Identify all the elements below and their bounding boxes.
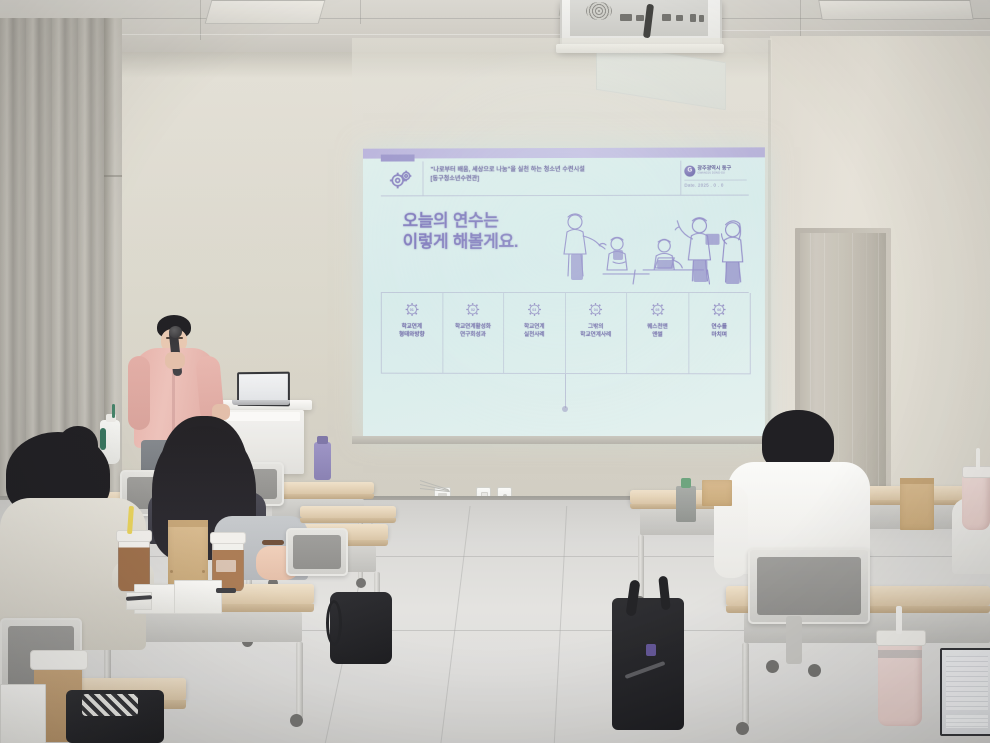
attendee-laptop-screen[interactable] xyxy=(940,648,990,736)
tumbler-straw xyxy=(896,606,902,634)
chair-caster xyxy=(766,660,779,673)
slide-title-line2: 이렇게 해볼게요. xyxy=(403,231,519,252)
white-box xyxy=(0,684,46,743)
gear-icon: 01 xyxy=(404,302,419,317)
chair-stand xyxy=(786,616,802,664)
tumbler-handle xyxy=(100,428,106,450)
desk xyxy=(300,506,396,518)
projector-port xyxy=(699,15,704,22)
step-label: 학교연계활성화 연구회성과 xyxy=(455,323,491,339)
outlet-cables xyxy=(420,478,450,492)
presenter-left-arm xyxy=(128,356,150,430)
projector-port xyxy=(676,15,683,21)
eyeglasses xyxy=(216,588,236,593)
cup-label xyxy=(216,560,236,572)
slide-header-line2: [동구청소년수련관] xyxy=(430,174,680,183)
slide-connector-line xyxy=(565,374,566,408)
ceiling-tile-line xyxy=(120,34,560,35)
step-number: 06 xyxy=(712,302,727,317)
step-label: 학교연계 실천사례 xyxy=(524,323,545,339)
paper-bag-fold xyxy=(168,520,208,527)
step-label: 학교연계 형태와방향 xyxy=(399,323,425,339)
podium-shelf xyxy=(226,412,300,421)
step-label-line2: 마치며 xyxy=(711,331,727,339)
projector-port xyxy=(620,14,632,21)
tumbler-straw xyxy=(976,448,980,470)
step-label-line2: 앤썰 xyxy=(647,331,668,339)
ceiling-light xyxy=(205,0,326,24)
step-label: 퀘스천앤 앤썰 xyxy=(647,323,668,339)
desk-leg xyxy=(296,642,303,718)
desk-edge xyxy=(300,518,396,523)
tumbler-straw xyxy=(112,404,115,418)
pink-tumbler xyxy=(962,474,990,530)
slide-illustration xyxy=(547,206,748,288)
slide-date: Date. 2025 . 0 . 0 xyxy=(684,180,746,188)
gear-icon: 03 xyxy=(527,302,542,317)
slide-step-4: 04 그밖의 학교연계사례 xyxy=(565,293,627,373)
gray-bottle xyxy=(676,486,696,522)
paper-bag-fold xyxy=(900,478,934,484)
projection-screen: "나로부터 배움, 세상으로 나눔"을 실천 하는 청소년 수련시설 [동구청소… xyxy=(352,38,772,442)
slide-step-6: 06 연수를 마치며 xyxy=(689,293,750,373)
patterned-strap xyxy=(82,694,138,716)
desk-caster xyxy=(356,578,366,588)
slide-step-5: 05 퀘스천앤 앤썰 xyxy=(627,293,689,373)
logo-subtitle: GWANGJU DONG-GU xyxy=(697,172,731,175)
logo-mark-icon: G xyxy=(684,165,695,176)
bag-handle xyxy=(326,600,342,646)
desk-caster xyxy=(290,714,303,727)
bracelet xyxy=(262,540,284,545)
bottle-cap xyxy=(317,436,328,444)
ceiling-seam xyxy=(360,0,361,24)
date-value: 2025 . 0 . 0 xyxy=(698,183,724,188)
step-label-line1: 학교연계 xyxy=(524,323,545,331)
paper-bag-dot xyxy=(202,570,205,573)
paper-bag xyxy=(900,478,934,530)
step-number: 03 xyxy=(527,302,542,317)
step-label-line1: 학교연계활성화 xyxy=(455,323,491,331)
gear-icon: 02 xyxy=(465,302,480,317)
bottle-cap xyxy=(681,478,691,488)
gear-icon: 05 xyxy=(650,302,665,317)
step-label-line2: 실천사례 xyxy=(524,331,545,339)
slide-step-2: 02 학교연계활성화 연구회성과 xyxy=(443,293,504,373)
cup-lid xyxy=(116,530,152,542)
ceiling-light xyxy=(818,0,974,20)
black-backpack xyxy=(612,598,684,730)
cup-lid xyxy=(210,532,246,544)
paper-bag xyxy=(168,520,208,586)
step-label-line2: 학교연계사례 xyxy=(580,331,611,339)
date-label: Date. xyxy=(684,183,696,188)
step-label-line2: 연구회성과 xyxy=(455,331,491,339)
slide-title: 오늘의 연수는 이렇게 해볼게요. xyxy=(403,210,519,252)
purple-bottle xyxy=(314,442,331,480)
microphone-head xyxy=(169,326,182,338)
presenter-eye xyxy=(178,337,183,339)
desk-caster xyxy=(736,722,749,735)
cup-lid xyxy=(30,650,88,670)
projector-fan-vent xyxy=(586,2,612,20)
organization-logo: G 광주광역시 동구 GWANGJU DONG-GU xyxy=(684,163,746,177)
slide-step-3: 03 학교연계 실천사례 xyxy=(504,293,565,373)
ceiling-tile-line xyxy=(720,30,990,31)
screen-bottom-edge xyxy=(352,436,772,444)
tumbler-band xyxy=(878,650,922,658)
step-number: 01 xyxy=(404,302,419,317)
desk-leg xyxy=(742,643,749,725)
paper-bag-dot xyxy=(170,570,173,573)
slide-header-text: "나로부터 배움, 세상으로 나눔"을 실천 하는 청소년 수련시설 [동구청소… xyxy=(430,166,680,184)
slide-connector-dot xyxy=(562,406,568,412)
step-number: 02 xyxy=(465,302,480,317)
presenter-left-hand xyxy=(165,352,185,369)
slide-title-line1: 오늘의 연수는 xyxy=(403,210,519,231)
paper-bag xyxy=(702,480,732,506)
chair-caster xyxy=(808,664,821,677)
step-label: 그밖의 학교연계사례 xyxy=(580,323,611,339)
classroom-scene: "나로부터 배움, 세상으로 나눔"을 실천 하는 청소년 수련시설 [동구청소… xyxy=(0,0,990,743)
step-number: 05 xyxy=(650,302,665,317)
step-label-line1: 학교연계 xyxy=(399,323,425,331)
slide-top-bar xyxy=(363,147,765,158)
slide-logo-gear-cell xyxy=(381,161,424,195)
pillar-band xyxy=(104,175,122,177)
gear-icon: 04 xyxy=(588,302,603,317)
step-number: 04 xyxy=(588,302,603,317)
double-gear-icon xyxy=(387,168,417,190)
backpack-tag xyxy=(646,644,656,656)
chair[interactable] xyxy=(286,528,348,576)
projector-port xyxy=(636,15,644,21)
projector-port xyxy=(690,14,696,22)
gear-icon: 06 xyxy=(712,302,727,317)
chair[interactable] xyxy=(748,548,870,624)
step-label-line1: 연수를 xyxy=(711,323,727,331)
presentation-slide: "나로부터 배움, 세상으로 나눔"을 실천 하는 청소년 수련시설 [동구청소… xyxy=(363,147,765,438)
slide-step-1: 01 학교연계 형태와방향 xyxy=(382,293,443,373)
step-label: 연수를 마치며 xyxy=(711,323,727,339)
slide-step-row: 01 학교연계 형태와방향 02 학교연계활성화 연구회성과 xyxy=(381,293,751,374)
step-label-line1: 그밖의 xyxy=(580,323,611,331)
presenter-laptop-base xyxy=(232,400,290,405)
projector-port xyxy=(662,14,671,21)
white-box xyxy=(174,580,222,614)
step-label-line2: 형태와방향 xyxy=(399,331,425,339)
step-label-line1: 퀘스천앤 xyxy=(647,323,668,331)
